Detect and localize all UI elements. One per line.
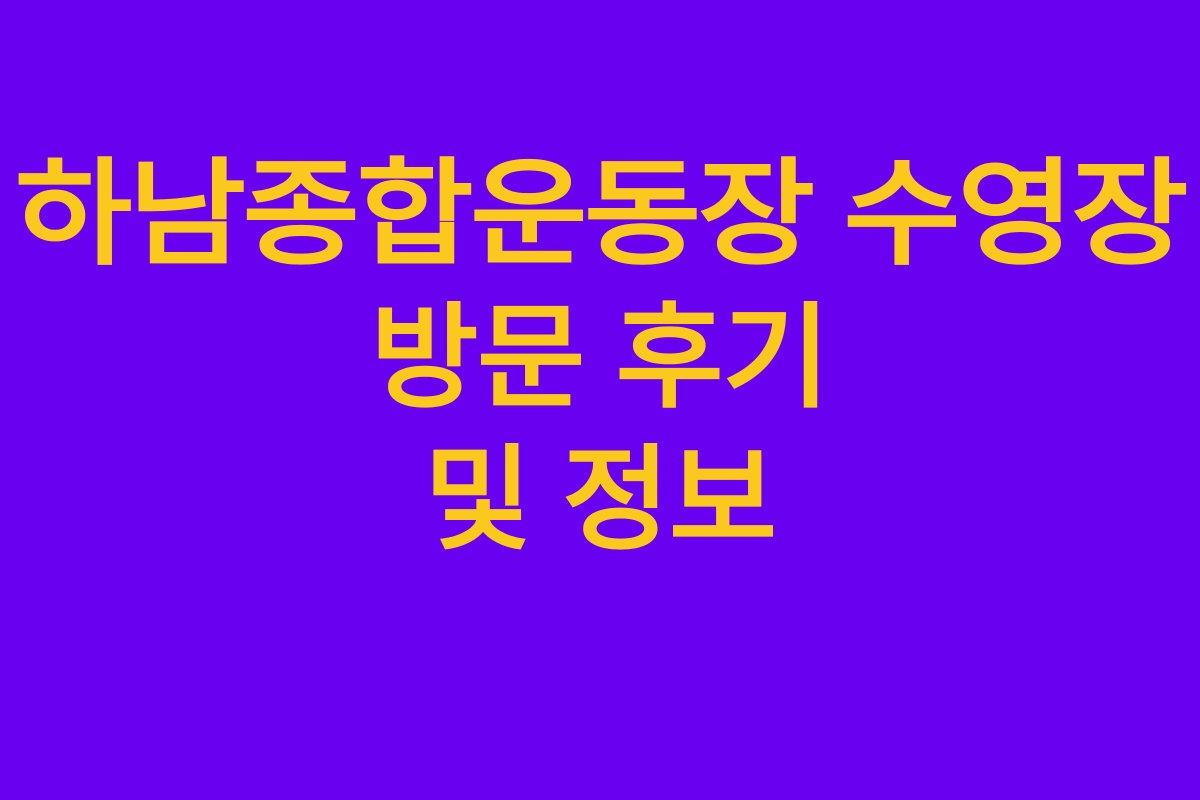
title-line-3: 및 정보 bbox=[424, 444, 776, 558]
title-line-1: 하남종합운동장 수영장 bbox=[15, 156, 1185, 272]
thumbnail-banner: 하남종합운동장 수영장 방문 후기 및 정보 bbox=[0, 0, 1200, 800]
title-line-2: 방문 후기 bbox=[371, 302, 830, 416]
title-block: 하남종합운동장 수영장 방문 후기 및 정보 bbox=[0, 156, 1200, 558]
